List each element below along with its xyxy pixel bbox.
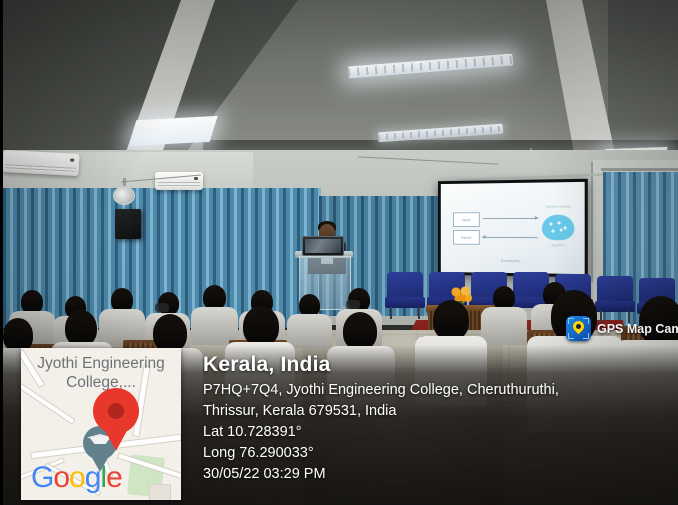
icon-corner (583, 333, 589, 339)
chair-back (597, 276, 633, 302)
google-logo-letter: G (31, 461, 53, 494)
ai-brain-icon (542, 215, 575, 241)
slide-arrow-backward (483, 237, 538, 238)
projected-slide: Input Result machine learning algorithm … (441, 182, 585, 274)
google-logo-letter: e (106, 461, 122, 494)
slide-arrow-forward (483, 218, 538, 219)
google-logo: Google (31, 463, 122, 493)
face-mask (155, 303, 169, 312)
ac-indicator-icon (194, 177, 198, 180)
chair-back (387, 272, 423, 298)
wall-speaker (115, 209, 141, 239)
chair-leg (418, 307, 420, 319)
map-thumbnail[interactable]: Jyothi Engineering College,... Google (21, 348, 181, 500)
audience-head (433, 300, 469, 340)
map-building (149, 484, 171, 500)
speaker-cone-icon (122, 218, 133, 229)
slide-caption-top: machine learning (534, 204, 583, 208)
map-place-label: Jyothi Engineering College,... (21, 354, 181, 392)
slide-caption-bottom: algorithm (534, 243, 583, 247)
longitude-value: Long 76.290033° (203, 443, 673, 464)
location-info-block: Kerala, India P7HQ+7Q4, Jyothi Engineeri… (203, 352, 673, 485)
ac-vent (6, 164, 76, 173)
gps-map-camera-badge: GPS Map Camera (566, 316, 678, 341)
ac-indicator-icon (70, 159, 74, 162)
audience-torso (481, 307, 527, 345)
audience-head (153, 314, 187, 352)
audience-head (343, 312, 377, 350)
address-line-1: P7HQ+7Q4, Jyothi Engineering College, Ch… (203, 380, 673, 401)
icon-corner (583, 318, 589, 324)
gps-camera-icon (566, 316, 591, 341)
google-logo-letter: o (69, 461, 85, 494)
audience-torso (287, 314, 332, 348)
icon-corner (568, 333, 574, 339)
audience-head (65, 310, 97, 346)
wall-fan-icon (113, 186, 135, 205)
slide-footer-text: Examples (441, 257, 585, 264)
air-conditioner-unit (3, 150, 80, 176)
podium-laptop (302, 236, 344, 256)
place-title: Kerala, India (203, 352, 673, 378)
stage-chair (385, 272, 425, 312)
timestamp-value: 30/05/22 03:29 PM (203, 464, 673, 485)
stage-chair (595, 276, 635, 316)
curtain-rod-right (601, 168, 678, 171)
wall-seam (591, 162, 593, 282)
slide-box-input: Input (453, 212, 480, 227)
pin-center-dot (108, 403, 124, 419)
audience-head (3, 318, 33, 352)
ceiling-led-panel (128, 116, 218, 146)
ac-vent (158, 182, 200, 187)
latitude-value: Lat 10.728391° (203, 422, 673, 443)
face-mask (346, 300, 360, 309)
google-logo-letter: g (85, 461, 101, 494)
gps-badge-label: GPS Map Camera (597, 322, 678, 336)
location-pin-icon (93, 388, 139, 446)
slide-box-result: Result (453, 230, 480, 245)
address-line-2: Thrissur, Kerala 679531, India (203, 401, 673, 422)
google-logo-letter: o (53, 461, 69, 494)
gps-map-camera-photo: Input Result machine learning algorithm … (0, 0, 678, 505)
audience-head (243, 306, 279, 346)
chair-leg (390, 307, 392, 319)
projector-screen: Input Result machine learning algorithm … (438, 179, 588, 277)
